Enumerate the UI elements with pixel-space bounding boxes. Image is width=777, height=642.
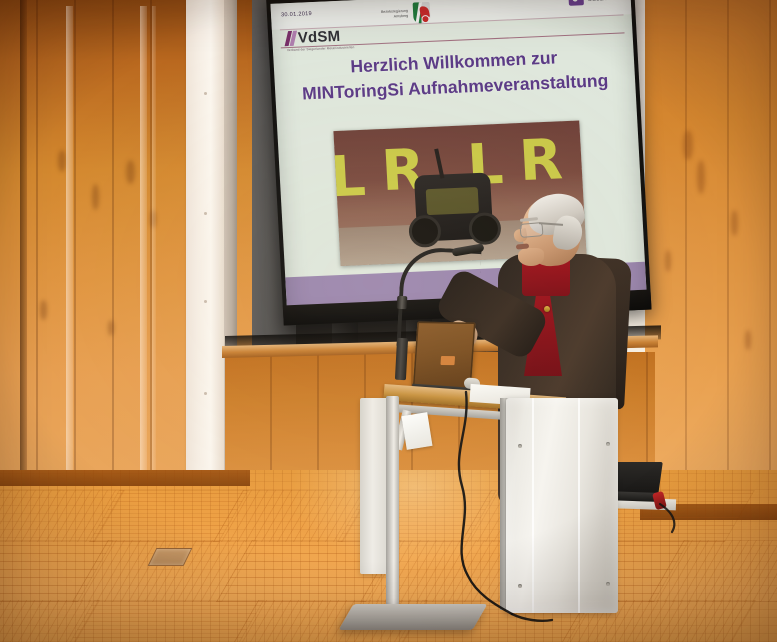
wall-seam [152,6,156,492]
lectern-front-panel [506,398,618,613]
university-line-2: SIEGEN [588,0,607,1]
microphone-collar [397,296,408,310]
vdsm-logo: VdSM [286,29,341,46]
ministry-logo-text: Bezirksregierung Arnsberg [381,8,408,19]
lectern-base-plate [338,604,487,630]
lectern-paper-sheet [402,412,433,450]
nrw-coat-of-arms-icon [413,2,431,24]
vdsm-logo-text: VdSM [297,29,340,46]
lectern-panel-left [360,398,388,574]
eyeglasses-icon [519,222,543,238]
wall-seam [140,6,147,492]
vdsm-slash-icon [286,31,295,46]
ministry-line-2: Arnsberg [394,13,409,18]
lecture-hall-photograph: VdSM Verband der Siegerlander Metallindu… [0,0,777,642]
university-logo-text: UNIVERSITÄT SIEGEN [588,0,621,2]
university-mark-icon [568,0,584,6]
speaker-chin [518,248,544,266]
wall-column-left [186,0,226,482]
slide-photo-letter: L [333,152,367,204]
ministry-logo: Bezirksregierung Arnsberg [381,2,431,25]
slide-title: Herzlich Willkommen zur MINToringSi Aufn… [273,42,635,108]
slide-photo-letter: R [518,135,564,187]
microphone-base [395,338,408,381]
wall-seam [66,6,73,486]
robot-figure [414,172,494,241]
speaker-lapel-pin [544,306,550,312]
laptop-sticker [440,356,455,365]
wall-panel-right [645,0,777,530]
lectern-post [386,396,399,612]
